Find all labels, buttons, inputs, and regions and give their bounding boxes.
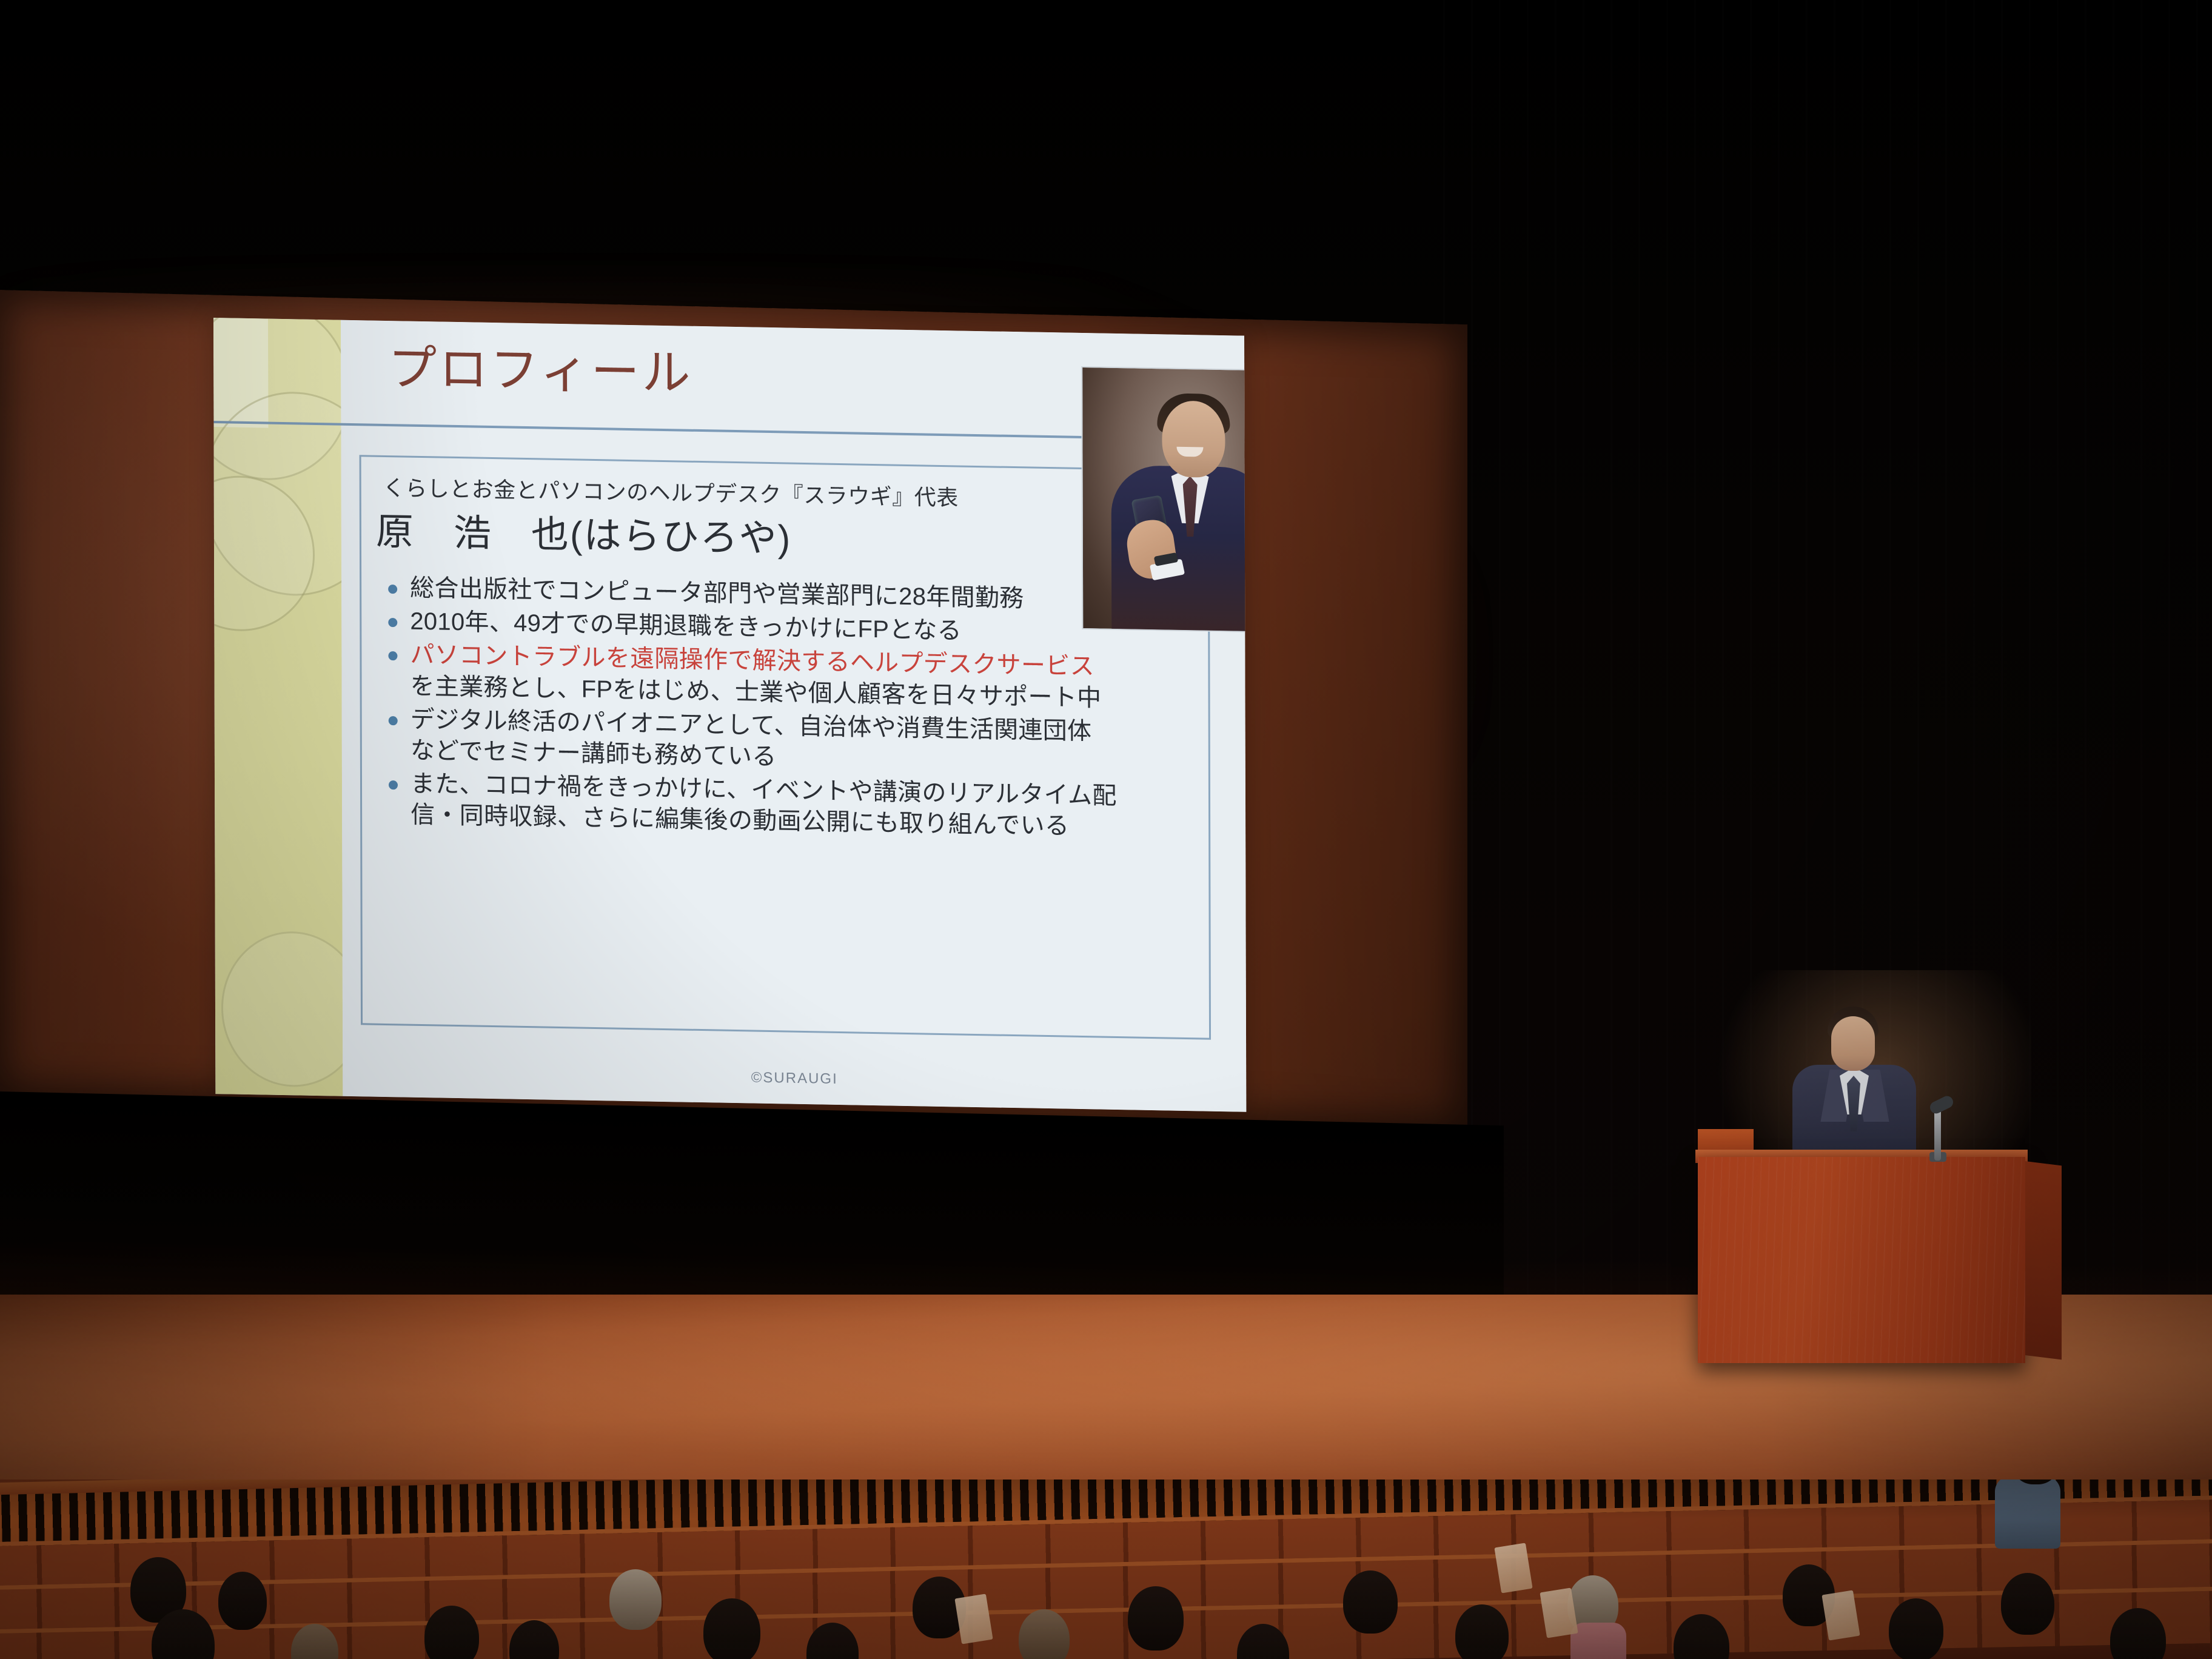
presenter	[1781, 1007, 1927, 1170]
bullet-dot-icon	[388, 651, 397, 660]
profile-bullet-list: 総合出版社でコンピュータ部門や営業部門に28年間勤務 2010年、49才での早期…	[376, 572, 1194, 847]
list-item: デジタル終活のパイオニアとして、自治体や消費生活関連団体 などでセミナー講師も務…	[377, 703, 1194, 780]
portrait-face	[1162, 400, 1225, 478]
audience-member	[218, 1572, 267, 1630]
audience-member	[1343, 1570, 1398, 1634]
slide-copyright-footer: ©SURAUGI	[343, 1062, 1246, 1095]
bullet-dot-icon	[388, 618, 397, 627]
audience-member	[1128, 1586, 1184, 1651]
audience-member-torso	[1570, 1623, 1626, 1659]
slide-title: プロフィール	[388, 343, 693, 399]
lectern	[1698, 1157, 2025, 1363]
audience-member-standing	[1995, 1480, 2060, 1549]
bullet-dot-icon	[389, 780, 398, 789]
profile-content-box: くらしとお金とパソコンのヘルプデスク『スラウギ』代表 原 浩 也(はらひろや)	[360, 455, 1211, 1040]
microphone-stem	[1934, 1108, 1941, 1161]
auditorium-photo: プロフィール くらしとお金とパソコンのヘルプデスク『スラウギ』代表 原 浩 也(…	[0, 0, 2212, 1659]
audience-member	[609, 1569, 662, 1630]
profile-name-line: 原 浩 也(はらひろや)	[376, 501, 792, 563]
list-item: パソコントラブルを遠隔操作で解決するヘルプデスクサービス を主業務とし、FPをは…	[376, 639, 1193, 716]
audience-member	[2001, 1573, 2054, 1635]
lectern-side-panel	[2025, 1161, 2062, 1359]
list-item: また、コロナ禍をきっかけに、イベントや講演のリアルタイム配 信・同時収録、さらに…	[377, 768, 1194, 845]
presenter-face	[1831, 1016, 1875, 1071]
bullet-dot-icon	[388, 585, 397, 594]
audience-seating	[0, 1480, 2212, 1659]
presentation-slide: プロフィール くらしとお金とパソコンのヘルプデスク『スラウギ』代表 原 浩 也(…	[213, 318, 1246, 1112]
audience-member	[1889, 1598, 1943, 1659]
bullet-dot-icon	[389, 716, 398, 725]
slide-body: プロフィール くらしとお金とパソコンのヘルプデスク『スラウギ』代表 原 浩 也(…	[341, 320, 1246, 1112]
lectern-wood-grain	[1698, 1157, 2025, 1363]
audience-member	[703, 1598, 760, 1659]
